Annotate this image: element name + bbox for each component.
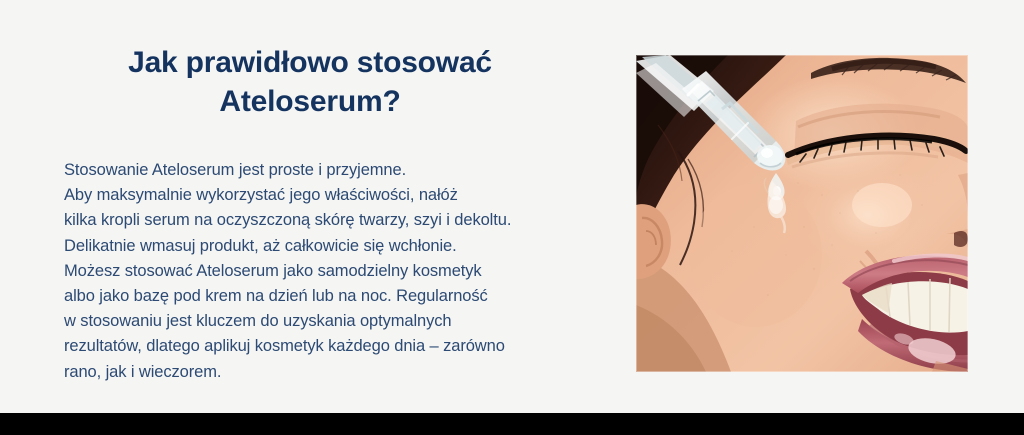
page-title-line-2: Ateloserum? — [20, 83, 600, 121]
bottom-black-band — [0, 413, 1024, 435]
body-line: rezultatów, dlatego aplikuj kosmetyk każ… — [64, 334, 600, 359]
body-line: Delikatnie wmasuj produkt, aż całkowicie… — [64, 234, 600, 259]
body-line: w stosowaniu jest kluczem do uzyskania o… — [64, 309, 600, 334]
body-line: albo jako bazę pod krem na dzień lub na … — [64, 284, 600, 309]
promo-slide: Jak prawidłowo stosować Ateloserum? Stos… — [0, 0, 1024, 435]
text-column: Jak prawidłowo stosować Ateloserum? Stos… — [0, 0, 620, 413]
body-line: Stosowanie Ateloserum jest proste i przy… — [64, 158, 600, 183]
body-line: rano, jak i wieczorem. — [64, 360, 600, 385]
serum-application-photo — [636, 55, 968, 372]
body-paragraph: Stosowanie Ateloserum jest proste i przy… — [64, 158, 600, 385]
body-line: Aby maksymalnie wykorzystać jego właściw… — [64, 183, 600, 208]
page-title: Jak prawidłowo stosować Ateloserum? — [20, 44, 600, 121]
page-title-line-1: Jak prawidłowo stosować — [20, 44, 600, 82]
body-line: kilka kropli serum na oczyszczoną skórę … — [64, 208, 600, 233]
body-line: Możesz stosować Ateloserum jako samodzie… — [64, 259, 600, 284]
